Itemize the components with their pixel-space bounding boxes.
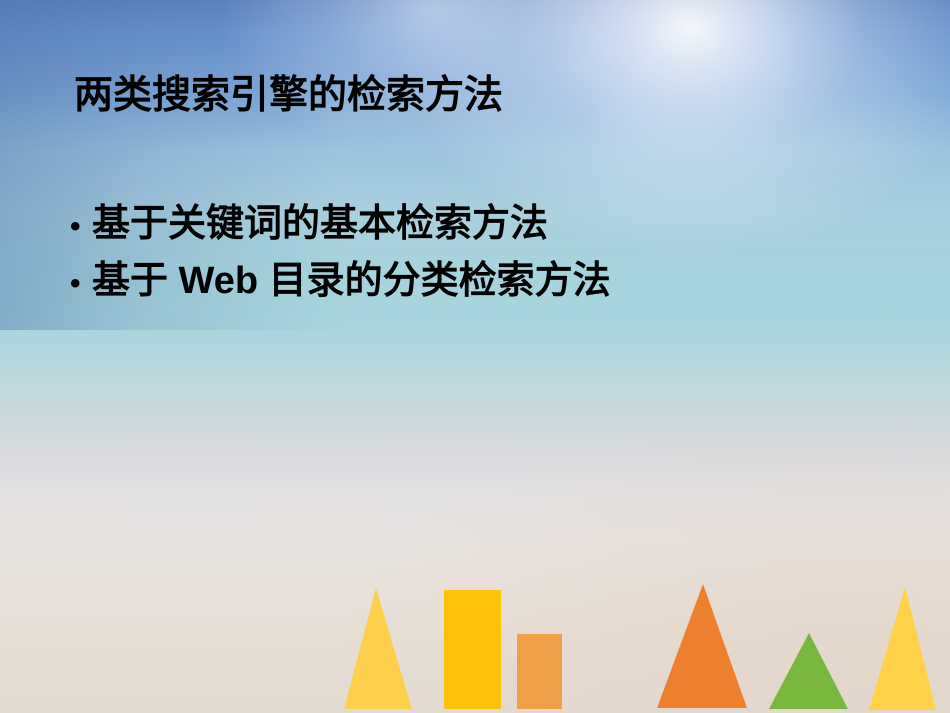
presentation-slide: 两类搜索引擎的检索方法 • 基于关键词的基本检索方法 • 基于 Web 目录的分…: [0, 0, 950, 713]
slide-title: 两类搜索引擎的检索方法: [74, 76, 503, 115]
bullet-item-2: • 基于 Web 目录的分类检索方法: [70, 253, 611, 310]
bullet-list: • 基于关键词的基本检索方法 • 基于 Web 目录的分类检索方法: [70, 196, 611, 309]
bullet-marker-icon: •: [70, 212, 92, 242]
slide-content: 两类搜索引擎的检索方法 • 基于关键词的基本检索方法 • 基于 Web 目录的分…: [0, 0, 950, 713]
bullet-item-1-label: 基于关键词的基本检索方法: [92, 196, 548, 253]
bullet-marker-icon: •: [70, 269, 92, 299]
bullet-item-2-label: 基于 Web 目录的分类检索方法: [92, 253, 611, 310]
bullet-item-1: • 基于关键词的基本检索方法: [70, 196, 611, 253]
